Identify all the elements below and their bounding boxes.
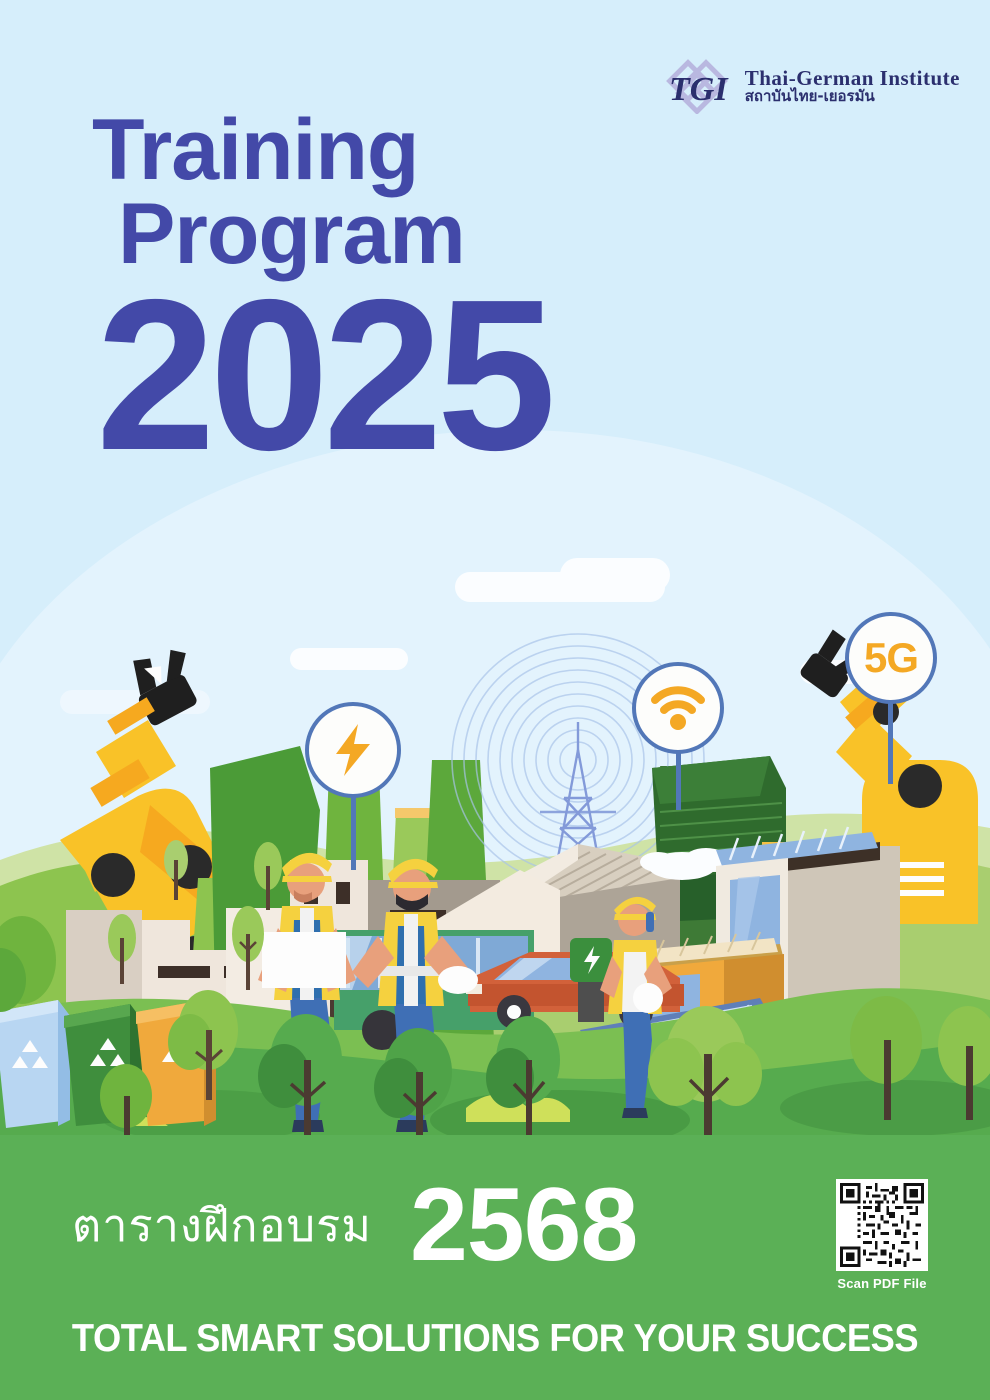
thai-schedule-label: ตารางฝึกอบรม — [72, 1189, 372, 1261]
smart-city-illustration — [0, 560, 990, 1140]
tgi-diamond-lattice-icon: TGI — [663, 58, 737, 114]
title-year: 2025 — [96, 283, 550, 468]
tagline: TOTAL SMART SOLUTIONS FOR YOUR SUCCESS — [35, 1317, 956, 1361]
wifi-badge — [632, 662, 724, 754]
qr-code-icon — [840, 1183, 924, 1267]
footer-band: ตารางฝึกอบรม 2568 — [0, 1135, 990, 1400]
qr-block[interactable]: Scan PDF File — [836, 1179, 928, 1291]
qr-caption: Scan PDF File — [836, 1276, 928, 1291]
tgi-logo-mark: TGI — [663, 58, 737, 114]
power-bolt-icon — [330, 722, 376, 778]
tgi-letters: TGI — [669, 71, 729, 108]
qr-code[interactable] — [836, 1179, 928, 1271]
thai-year: 2568 — [410, 1173, 637, 1277]
fiveg-badge-pole — [888, 702, 893, 784]
fiveg-badge: 5G — [845, 612, 937, 704]
wifi-icon — [651, 686, 705, 730]
fiveg-label: 5G — [864, 634, 918, 682]
poster-page: TGI Thai-German Institute สถาบันไทย-เยอร… — [0, 0, 990, 1400]
logo-thai-name: สถาบันไทย-เยอรมัน — [745, 89, 960, 105]
power-badge — [305, 702, 401, 798]
title-line-1: Training — [92, 108, 550, 192]
tgi-logo: TGI Thai-German Institute สถาบันไทย-เยอร… — [663, 58, 960, 114]
logo-english-name: Thai-German Institute — [745, 67, 960, 89]
page-title: Training Program 2025 — [92, 108, 550, 467]
